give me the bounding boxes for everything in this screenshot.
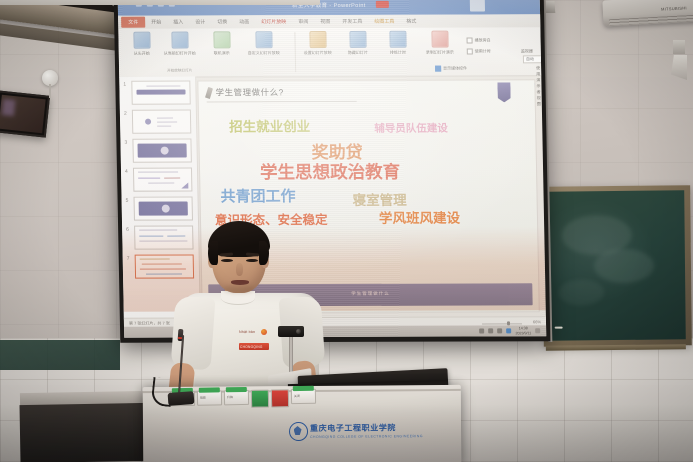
ribbon-label: 录制幻灯片演示	[426, 50, 454, 55]
slide-thumbnail[interactable]: 1	[131, 81, 190, 105]
thumbnail-number: 4	[125, 169, 128, 175]
slide-thumbnail[interactable]: 5	[134, 196, 193, 220]
control-cap-green	[199, 387, 220, 392]
word-cloud-item: 辅导员队伍建设	[374, 121, 448, 136]
ribbon-button-setup-show[interactable]: 设置幻灯片放映	[300, 31, 334, 55]
control-cap-green	[293, 386, 314, 391]
ribbon[interactable]: 从头开始 从当前幻灯片开始 联机演示 自定义幻灯片放映 开始放映幻灯片	[118, 27, 541, 77]
institution-name-english: CHONGQING COLLEGE OF ELECTRONIC ENGINEER…	[310, 434, 423, 439]
ribbon-button-from-current[interactable]: 从当前幻灯片开始	[162, 31, 196, 55]
custom-show-icon	[255, 31, 272, 48]
word-cloud-item: 学风班风建设	[379, 207, 460, 227]
show-desktop-icon[interactable]	[535, 328, 540, 333]
control-label: 关闭	[294, 394, 300, 398]
thumbnail-number: 1	[123, 82, 126, 88]
close-icon[interactable]	[376, 1, 389, 8]
ribbon-label: 自定义幻灯片放映	[248, 50, 280, 55]
volume-icon[interactable]	[497, 328, 502, 333]
ribbon-button-rehearse[interactable]: 排练计时	[380, 31, 414, 55]
slide-title: 学生管理做什么?	[215, 86, 283, 98]
slide-title-row: 学生管理做什么?	[206, 86, 283, 98]
slide-thumbnail[interactable]: 2	[132, 109, 191, 133]
side-table-body	[20, 403, 149, 462]
network-icon[interactable]	[488, 328, 493, 333]
classroom-photo: MITSUBISHI	[0, 0, 693, 462]
control-cap-green	[226, 387, 247, 392]
slide-thumbnail[interactable]: 3	[132, 138, 191, 162]
record-show-icon	[431, 31, 448, 48]
speaker-mount-stem	[49, 84, 51, 98]
monitor-field-label: 监视器	[521, 48, 533, 54]
control-label: 投影	[200, 396, 206, 400]
ribbon-button-record-show[interactable]: 录制幻灯片演示	[422, 31, 456, 55]
control-button-close[interactable]: 关闭	[291, 389, 316, 404]
control-label: 升降	[227, 395, 233, 399]
ribbon-label: 隐藏幻灯片	[348, 50, 368, 55]
monitor-select[interactable]: 自动	[523, 55, 546, 63]
presenter-nose	[236, 263, 243, 276]
ribbon-button-from-start[interactable]: 从头开始	[124, 32, 158, 56]
institution-name: 重庆电子工程职业学院	[310, 422, 396, 434]
checkbox-use-timings[interactable]: 使用计时	[467, 48, 491, 54]
word-cloud-item: 招生就业创业	[229, 115, 310, 135]
tab-view[interactable]: 视图	[314, 18, 336, 25]
tab-insert[interactable]: 插入	[167, 19, 189, 26]
checkbox-label: 使用计时	[475, 48, 491, 54]
tab-design[interactable]: 设计	[189, 18, 211, 25]
chalkboard-left-sliver	[0, 340, 120, 370]
tab-animations[interactable]: 动画	[233, 18, 255, 25]
ribbon-label: 联机演示	[214, 50, 230, 55]
word-cloud-item: 共青团工作	[220, 185, 295, 206]
tab-transitions[interactable]: 切换	[211, 18, 233, 25]
thumbnail-number: 3	[124, 140, 127, 146]
checkbox-play-narration[interactable]: 播放旁白	[467, 37, 491, 43]
tab-review[interactable]: 审阅	[292, 18, 314, 25]
document-camera-lens	[296, 329, 301, 334]
thumbnail-number: 2	[124, 111, 127, 117]
ribbon-label: 从当前幻灯片开始	[164, 50, 196, 55]
play-from-start-icon	[133, 32, 150, 49]
checkbox-label: 使用演示者视图	[536, 65, 544, 107]
tab-slideshow[interactable]: 幻灯片放映	[255, 18, 292, 25]
ribbon-button-hide-slide[interactable]: 隐藏幻灯片	[340, 31, 374, 55]
hide-slide-icon	[349, 31, 366, 48]
ribbon-label: 排练计时	[390, 50, 406, 55]
presenter-collar	[221, 291, 255, 305]
thumbnail-number: 7	[127, 256, 130, 262]
tab-home[interactable]: 开始	[145, 19, 167, 26]
thumbnail-number: 6	[126, 227, 129, 233]
ribbon-label: 设置幻灯片放映	[304, 50, 332, 55]
slide-thumbnail[interactable]: 4	[133, 167, 192, 191]
zoom-level[interactable]: 66%	[533, 319, 541, 324]
word-cloud-item: 学生思想政治教育	[260, 159, 400, 184]
play-from-current-icon	[171, 32, 188, 49]
minimize-icon[interactable]	[470, 0, 485, 12]
tab-format[interactable]: 格式	[400, 18, 422, 25]
chalk-piece	[555, 326, 563, 329]
tab-drawing-tools[interactable]: 绘图工具	[368, 18, 400, 25]
presenter-chin-shadow	[223, 285, 255, 293]
wall-monitor	[0, 90, 50, 137]
ribbon-group-title-start: 开始放映幻灯片	[167, 68, 192, 73]
show-hidden-icons-icon[interactable]	[479, 328, 484, 333]
present-online-icon	[213, 31, 230, 48]
wall-monitor-screen	[0, 95, 46, 133]
checkbox-label: 显示媒体控件	[443, 66, 467, 72]
ribbon-button-present-online[interactable]: 联机演示	[204, 31, 238, 55]
chalkboard	[542, 185, 692, 347]
zoom-slider[interactable]	[482, 323, 522, 324]
setup-show-icon	[309, 31, 326, 48]
shirt-badge-text: CHONGQING	[240, 345, 263, 349]
presenter-hair-left	[208, 241, 218, 265]
monitor-field-label-wrap: 监视器	[521, 48, 533, 54]
control-button-projector[interactable]: 投影	[197, 390, 222, 405]
checkbox-label: 播放旁白	[475, 37, 491, 43]
tab-developer[interactable]: 开发工具	[336, 18, 368, 25]
slide-indicator: 第 7 张幻灯片，共 7 张	[129, 320, 170, 326]
control-button-confirm[interactable]	[251, 390, 269, 408]
wall-speaker-mount	[673, 40, 685, 54]
clock-date: 2023/9/11	[515, 331, 531, 335]
slide-ribbon-shape	[497, 82, 510, 102]
control-button-screen[interactable]: 升降	[224, 390, 249, 405]
ribbon-button-custom-show[interactable]: 自定义幻灯片放映	[246, 31, 280, 55]
monitor-select-value: 自动	[526, 56, 534, 61]
wall-monitor-glare	[2, 99, 16, 116]
control-button-stop[interactable]	[271, 389, 289, 407]
thumbnail-number: 5	[126, 198, 129, 204]
pencil-icon	[205, 86, 213, 98]
rehearse-timings-icon	[389, 31, 406, 48]
taskbar-clock[interactable]: 14:38 2023/9/11	[515, 327, 531, 335]
presenter-hair-right	[259, 241, 269, 265]
tab-file[interactable]: 文件	[121, 17, 145, 28]
podium-worktop	[0, 0, 320, 5]
checkbox-show-media-controls[interactable]: 显示媒体控件	[435, 66, 467, 72]
ime-icon[interactable]	[506, 328, 511, 333]
ribbon-label: 从头开始	[134, 51, 150, 56]
chalkboard-surface	[547, 190, 686, 340]
shirt-logo-emblem	[261, 329, 267, 335]
